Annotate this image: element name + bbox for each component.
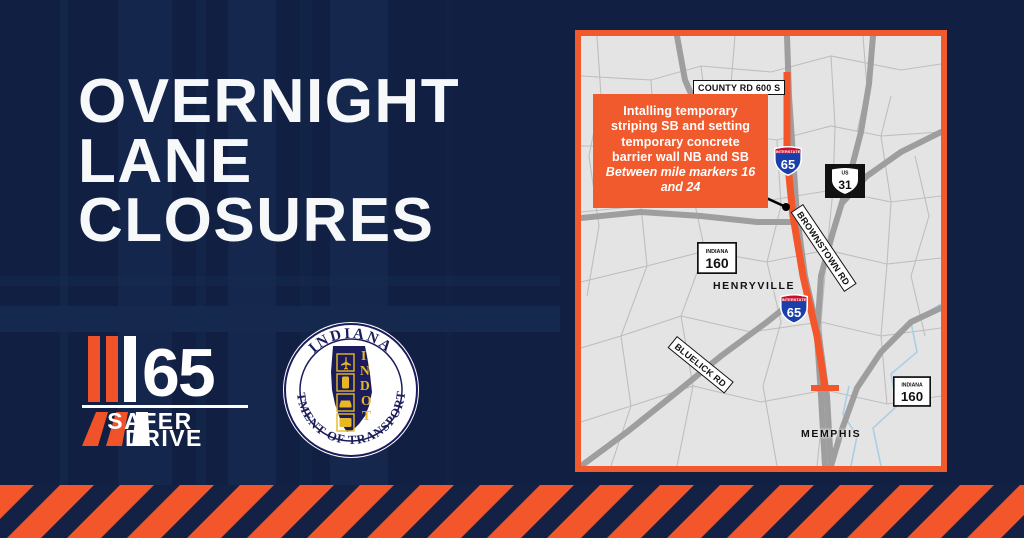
seal-acronym-t: T [362, 408, 371, 423]
logo-number: 65 [142, 335, 214, 411]
map-frame: Intalling temporary striping SB and sett… [575, 30, 947, 472]
callout-italic-text: Between mile markers 16 and 24 [601, 165, 760, 196]
map-label-henryville: HENRYVILLE [713, 280, 795, 292]
seal-acronym-label: INDOT [281, 320, 331, 324]
title-line-3: CLOSURES [78, 191, 460, 251]
svg-text:160: 160 [705, 255, 729, 271]
svg-text:31: 31 [838, 178, 852, 192]
logo-word-drive: DRIVE [125, 425, 203, 448]
svg-text:US: US [842, 171, 850, 177]
svg-text:65: 65 [781, 157, 795, 172]
logo-65-safer-drive: 65 SAFER DRIVE [80, 330, 250, 448]
poster: OVERNIGHT LANE CLOSURES 65 SAFER DRIVE [0, 0, 1024, 538]
page-title: OVERNIGHT LANE CLOSURES [78, 72, 460, 251]
map-label-county-rd-600-s: COUNTY RD 600 S [693, 80, 785, 95]
svg-text:INTERSTATE: INTERSTATE [776, 149, 801, 154]
svg-text:INDIANA: INDIANA [901, 383, 923, 389]
title-line-1: OVERNIGHT [78, 72, 460, 132]
map-canvas[interactable]: Intalling temporary striping SB and sett… [581, 36, 941, 466]
map-callout: Intalling temporary striping SB and sett… [593, 94, 768, 208]
callout-bold-text: Intalling temporary striping SB and sett… [601, 104, 760, 165]
seal-acronym-i: I [361, 348, 366, 363]
svg-text:INTERSTATE: INTERSTATE [782, 297, 807, 302]
seal-acronym-n: N [360, 363, 370, 378]
indot-seal: INDIANA DEPARTMENT OF TRANSPORTATION I N… [281, 320, 421, 460]
title-line-2: LANE [78, 132, 460, 192]
svg-text:160: 160 [901, 389, 923, 404]
hazard-stripe-band [0, 485, 1024, 538]
seal-acronym-d: D [360, 378, 370, 393]
seal-acronym-o: O [361, 393, 372, 408]
map-label-memphis: MEMPHIS [801, 428, 861, 440]
svg-text:65: 65 [787, 305, 801, 320]
